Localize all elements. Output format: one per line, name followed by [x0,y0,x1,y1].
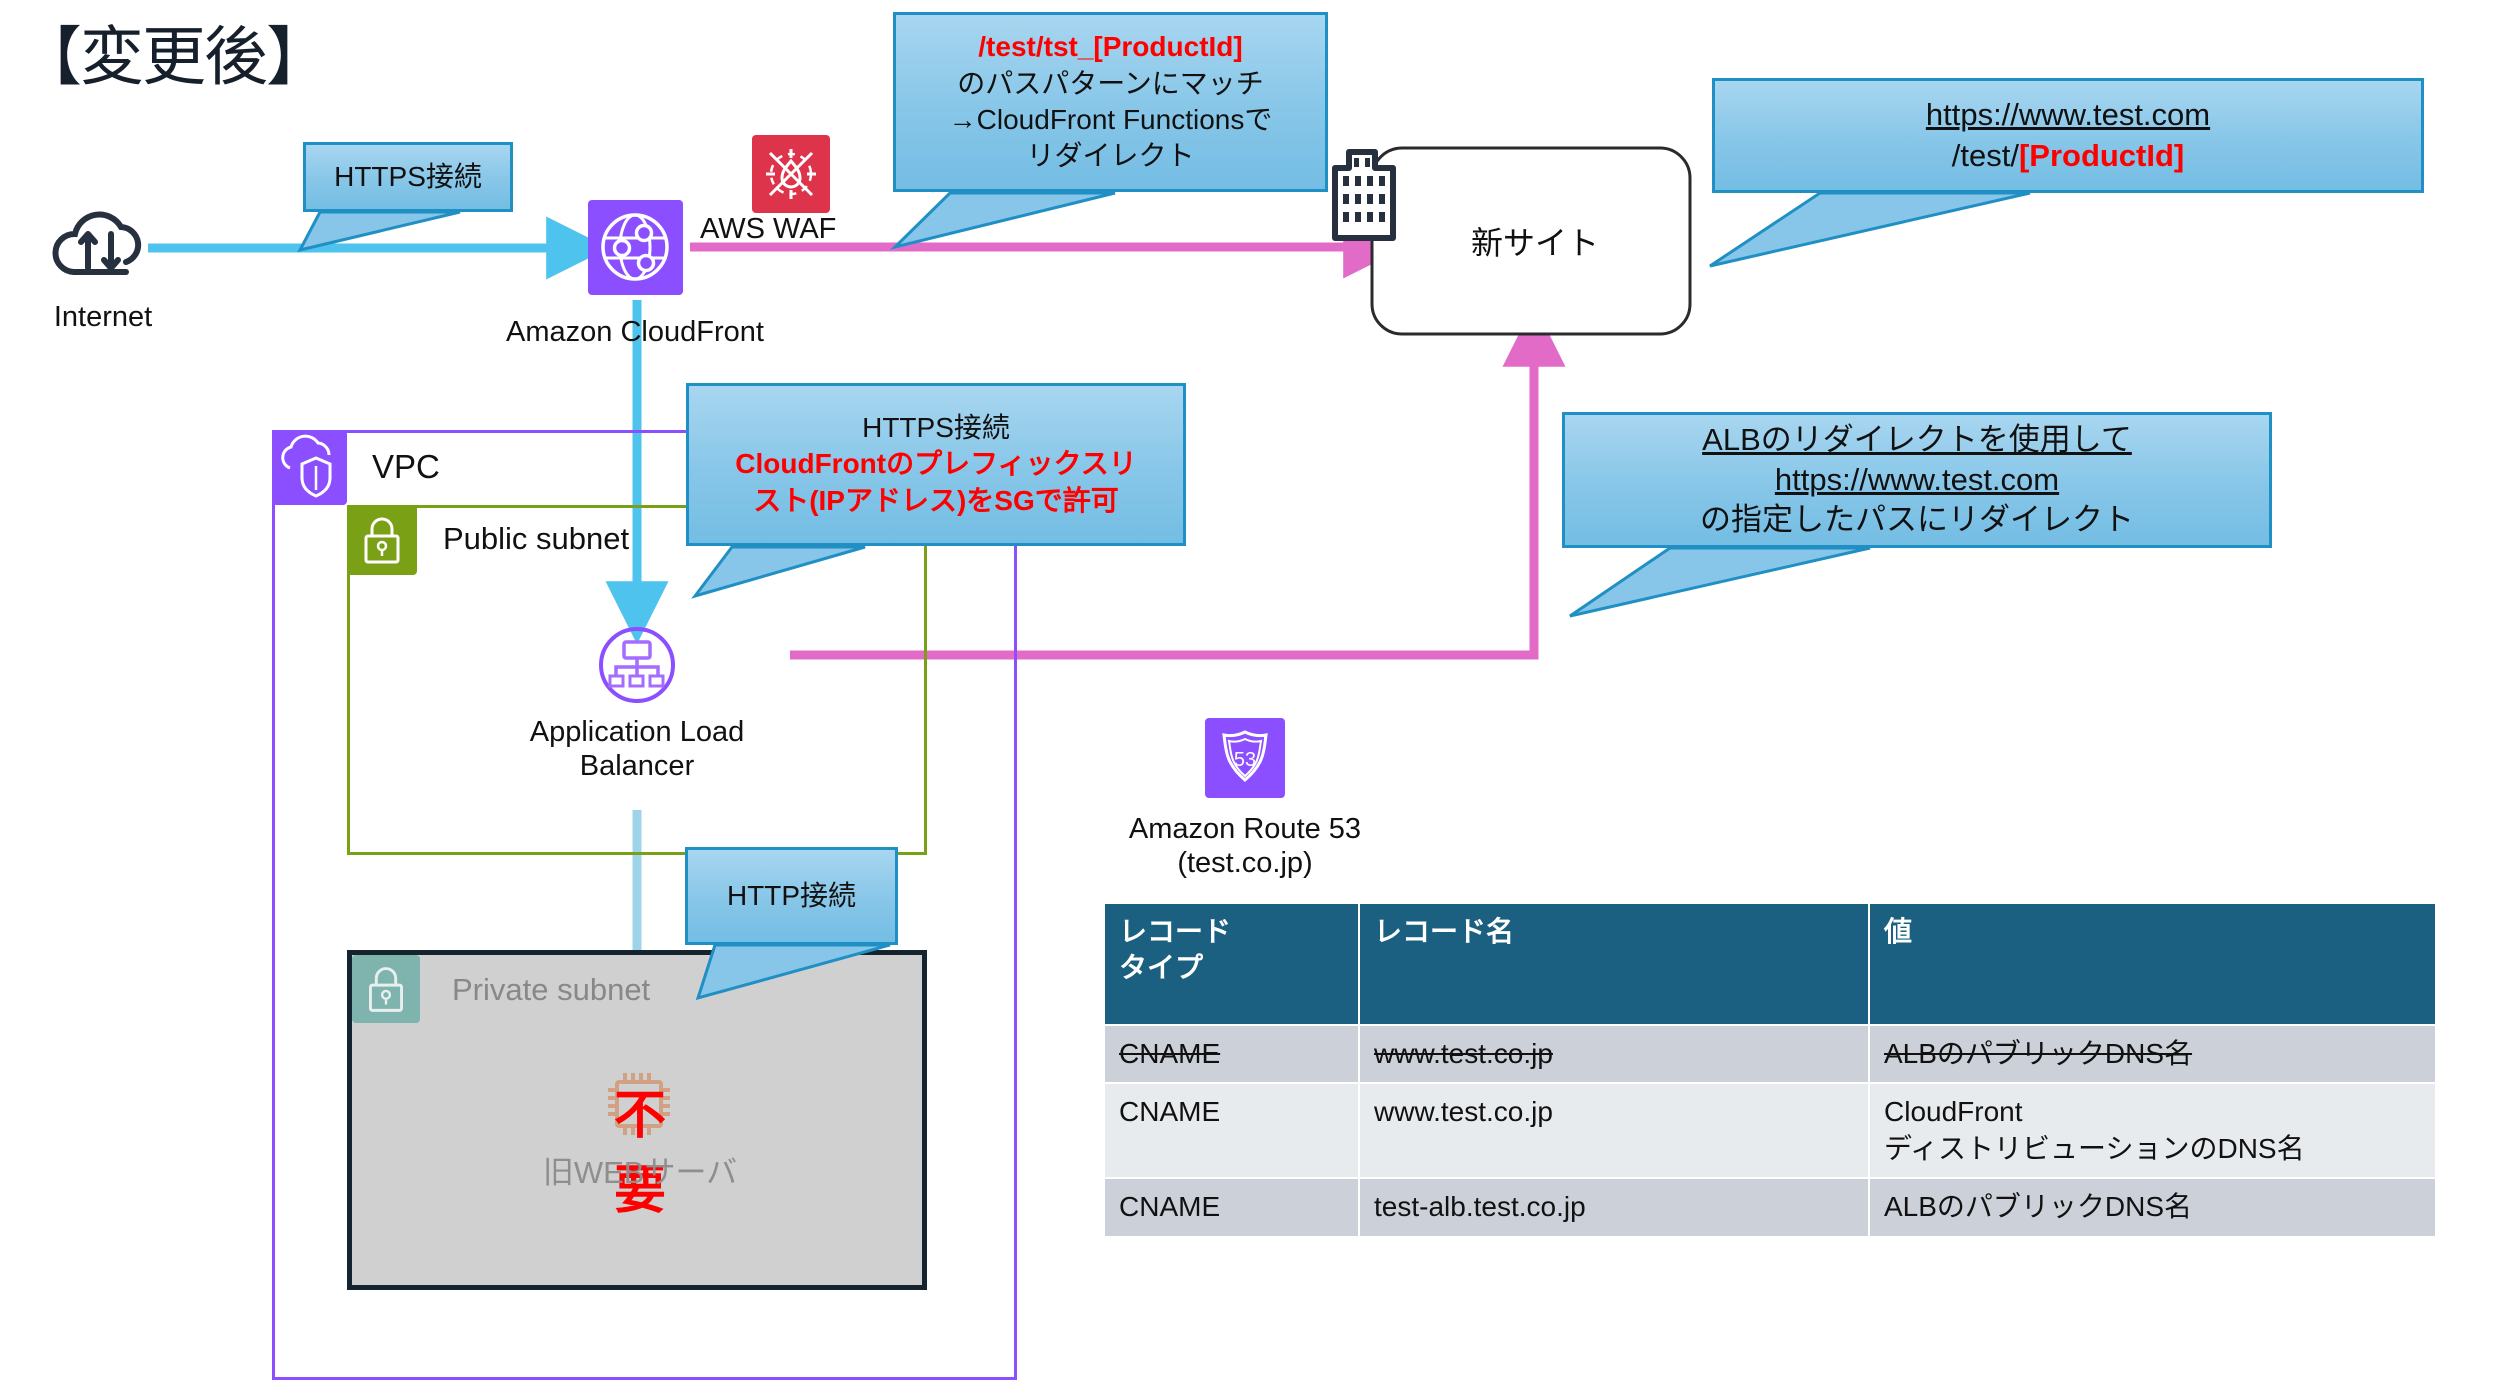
cell-record-type: CNAME [1104,1178,1359,1236]
table-header-record-type: レコード タイプ [1104,903,1359,1025]
callout-cf-line3: →CloudFront Functionsで [949,102,1273,138]
callout-https-sg-line1: HTTPS接続 [735,410,1136,446]
public-subnet-lock-icon [347,505,417,575]
internet-cloud-icon [48,200,153,290]
vpc-label: VPC [372,448,440,486]
callout-cloudfront-functions: /test/tst_[ProductId] のパスパターンにマッチ →Cloud… [893,12,1328,192]
callout-http-alb-text: HTTP接続 [717,874,866,918]
callout-newsite-url-line2-red: [ProductId] [2019,138,2184,173]
table-row: CNAME test-alb.test.co.jp ALBのパブリックDNS名 [1104,1178,2436,1236]
cell-record-name: www.test.co.jp [1359,1025,1869,1083]
table-header-record-name: レコード名 [1359,903,1869,1025]
building-icon [1325,140,1405,255]
svg-text:53: 53 [1234,749,1256,771]
callout-https-sg-line2: CloudFrontのプレフィックスリ [735,446,1136,482]
callout-newsite-url: https://www.test.com /test/[ProductId] [1712,78,2424,193]
private-subnet-label: Private subnet [452,972,650,1008]
table-row: CNAME www.test.co.jp CloudFront ディストリビュー… [1104,1083,2436,1178]
cell-value: CloudFront ディストリビューションのDNS名 [1869,1083,2436,1178]
callout-https-sg-line3: スト(IPアドレス)をSGで許可 [735,483,1136,519]
route53-label: Amazon Route 53 (test.co.jp) [1090,812,1400,880]
cloudfront-label: Amazon CloudFront [460,315,810,349]
application-load-balancer-icon [592,620,682,715]
table-row: CNAME www.test.co.jp ALBのパブリックDNS名 [1104,1025,2436,1083]
vpc-icon [272,430,347,505]
cell-value: ALBのパブリックDNS名 [1869,1025,2436,1083]
cell-value: ALBのパブリックDNS名 [1869,1178,2436,1236]
cell-record-name: test-alb.test.co.jp [1359,1178,1869,1236]
callout-newsite-url-line1: https://www.test.com [1926,95,2210,135]
callout-alb-redirect-line1: ALBのリダイレクトを使用して [1700,420,2134,460]
cell-record-type: CNAME [1104,1083,1359,1178]
new-site-label: 新サイト [1400,225,1670,263]
callout-https-sg-prefix: HTTPS接続 CloudFrontのプレフィックスリ スト(IPアドレス)をS… [686,383,1186,546]
callout-cf-line4: リダイレクト [949,138,1273,174]
cell-record-type: CNAME [1104,1025,1359,1083]
callout-alb-redirect: ALBのリダイレクトを使用して https://www.test.com の指定… [1562,412,2272,548]
callout-cf-line1: /test/tst_[ProductId] [949,29,1273,65]
public-subnet-label: Public subnet [443,521,629,557]
callout-cf-line2: のパスパターンにマッチ [949,66,1273,102]
table-header-value: 値 [1869,903,2436,1025]
private-subnet-lock-icon [352,955,420,1023]
alb-label: Application Load Balancer [487,715,787,783]
cell-record-name: www.test.co.jp [1359,1083,1869,1178]
callout-https-internet: HTTPS接続 [303,142,513,212]
callout-https-internet-text: HTTPS接続 [324,155,492,199]
old-web-server-overlay: 不要 [590,1073,690,1223]
callout-alb-redirect-line2: https://www.test.com [1700,460,2134,500]
callout-newsite-url-line2-plain: /test/ [1952,138,2019,173]
old-web-server-label: 旧WEBサーバ [500,1155,780,1192]
route-53-icon: 53 [1205,718,1285,798]
internet-label: Internet [28,300,178,334]
callout-http-alb: HTTP接続 [685,847,898,945]
callout-alb-redirect-line3: の指定したパスにリダイレクト [1700,500,2134,540]
dns-record-table: レコード タイプ レコード名 値 CNAME www.test.co.jp AL… [1103,902,2437,1238]
table-header-row: レコード タイプ レコード名 値 [1104,903,2436,1025]
aws-waf-icon [752,135,830,213]
cloudfront-icon [588,200,683,295]
aws-waf-label: AWS WAF [700,212,890,246]
